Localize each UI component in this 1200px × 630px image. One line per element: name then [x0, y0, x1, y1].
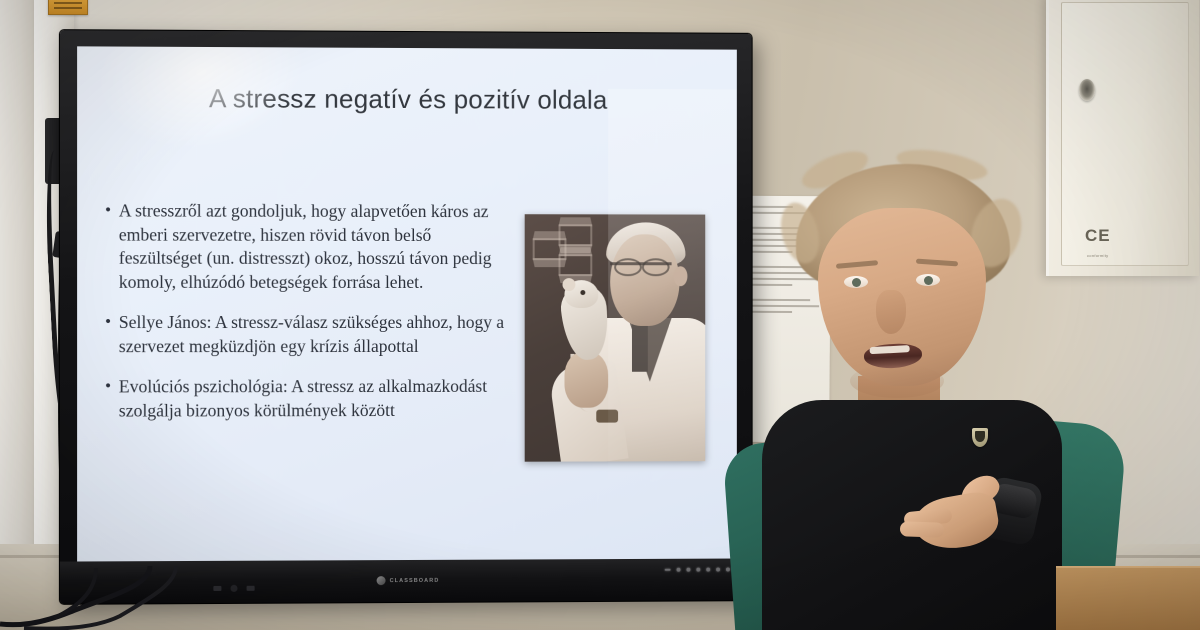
molecule-hexagon-icon: [559, 224, 593, 246]
bullet-marker-icon: •: [105, 375, 110, 422]
wall-left-strip: [0, 0, 34, 630]
brand-emblem-icon: [377, 576, 386, 585]
warning-sticker: [48, 0, 88, 15]
bullet-text: A stresszről azt gondoljuk, hogy alapvet…: [119, 199, 507, 294]
eyeglasses-icon: [642, 258, 670, 276]
rat-ear: [562, 278, 575, 291]
finger: [900, 521, 944, 538]
bullet-text: Sellye János: A stressz-válasz szükséges…: [119, 311, 507, 358]
molecule-hexagon-icon: [559, 254, 593, 276]
brand-name: CLASSBOARD: [390, 577, 440, 583]
wristwatch-icon: [596, 410, 618, 423]
teeth: [870, 345, 910, 354]
cable-paths: [0, 566, 250, 630]
ear: [674, 266, 688, 286]
bullet-text: Evolúciós pszichológia: A stressz az alk…: [119, 375, 507, 423]
slide-title: A stressz negatív és pozitív oldala: [77, 83, 737, 117]
head: [610, 234, 679, 326]
hand: [564, 352, 608, 408]
nose: [876, 290, 906, 334]
keyhole-icon[interactable]: [1079, 79, 1095, 101]
slide-photo-selye: [525, 214, 706, 461]
list-item: • Sellye János: A stressz-válasz szükség…: [105, 311, 506, 358]
list-item: • Evolúciós pszichológia: A stressz az a…: [105, 375, 506, 423]
control-button[interactable]: [677, 568, 681, 572]
eye: [916, 274, 940, 286]
cable-bundle-under-display: [0, 566, 250, 630]
eye: [844, 276, 868, 288]
eyeglasses-temple: [610, 262, 671, 265]
iris: [924, 276, 933, 285]
presentation-slide: A stressz negatív és pozitív oldala • A …: [77, 46, 737, 561]
control-button[interactable]: [686, 568, 690, 572]
bullet-marker-icon: •: [105, 311, 110, 358]
power-indicator-icon[interactable]: [665, 569, 671, 571]
iris: [852, 278, 861, 287]
slide-bullet-list: • A stresszről azt gondoljuk, hogy alapv…: [105, 199, 506, 439]
crest-inner: [975, 431, 985, 442]
photo-scene: CE conformity A stressz negatív és pozit…: [0, 0, 1200, 630]
shirt: [632, 324, 648, 372]
display-brand-logo: CLASSBOARD: [377, 576, 440, 585]
display-screen[interactable]: A stressz negatív és pozitív oldala • A …: [77, 46, 737, 561]
eyeglasses-icon: [614, 258, 642, 276]
desk: [1056, 568, 1200, 630]
bullet-marker-icon: •: [105, 199, 110, 294]
rat-eye: [580, 290, 585, 295]
interactive-flat-panel-display[interactable]: A stressz negatív és pozitív oldala • A …: [60, 30, 752, 604]
gesturing-hand: [898, 472, 1008, 558]
chin: [850, 364, 944, 398]
speaker-person: [700, 150, 1170, 630]
list-item: • A stresszről azt gondoljuk, hogy alapv…: [105, 199, 506, 294]
